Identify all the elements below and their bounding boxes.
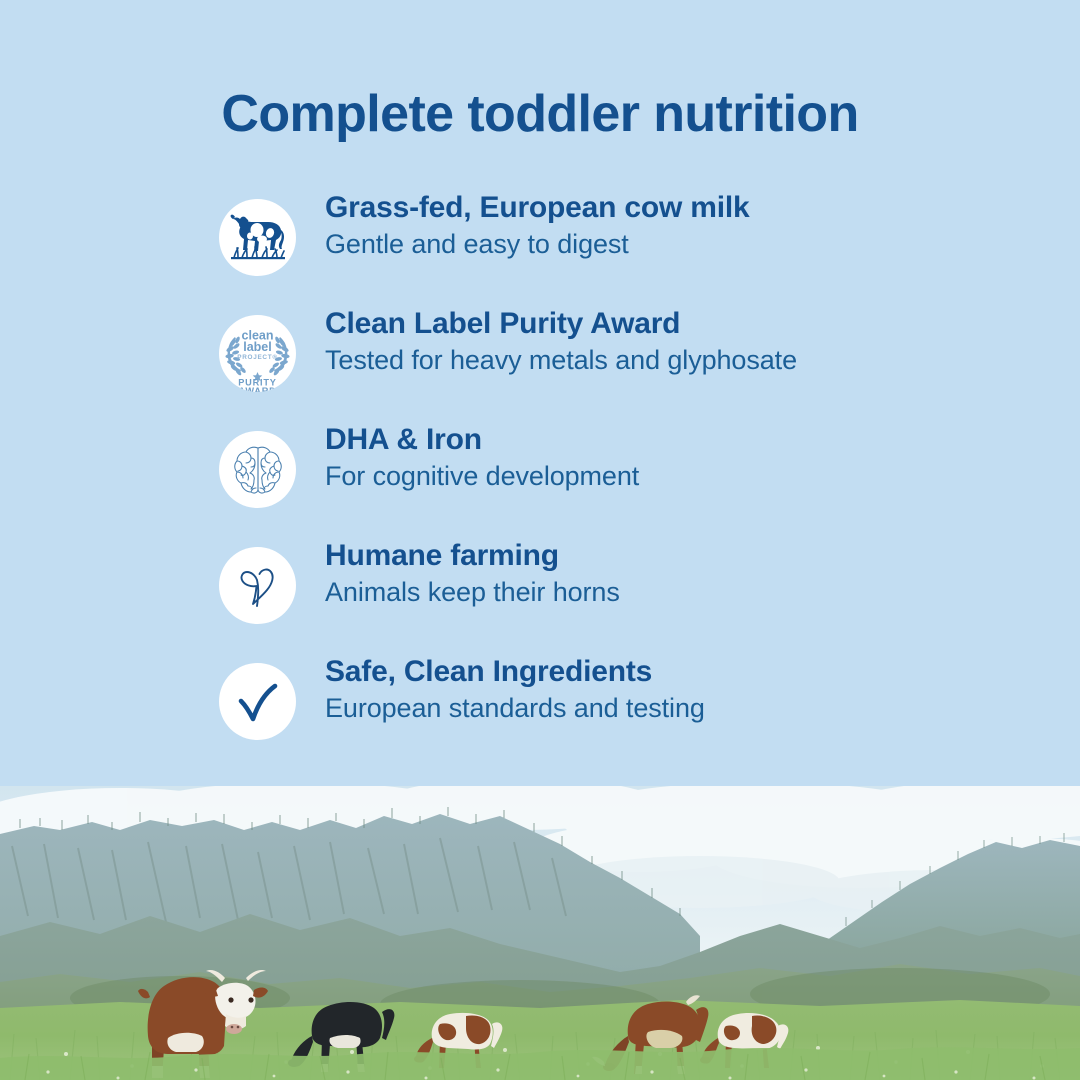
- feature-subtitle: Animals keep their horns: [325, 576, 620, 610]
- feature-item-grass-fed: Grass-fed, European cow milk Gentle and …: [0, 190, 1080, 306]
- badge-line-project: PROJECT®: [237, 353, 278, 361]
- brain-icon: [219, 431, 296, 508]
- feature-title: Safe, Clean Ingredients: [325, 654, 705, 691]
- feature-subtitle: For cognitive development: [325, 460, 639, 494]
- badge-line-award: AWARD: [238, 386, 276, 392]
- clean-label-purity-award-badge-icon: clean label PROJECT® PURITY AWARD: [219, 315, 296, 392]
- feature-title: Humane farming: [325, 538, 620, 575]
- feature-subtitle: European standards and testing: [325, 692, 705, 726]
- checkmark-icon: [219, 663, 296, 740]
- feature-item-humane-farming: Humane farming Animals keep their horns: [0, 538, 1080, 654]
- cow-in-grass-icon: [219, 199, 296, 276]
- feature-item-safe-ingredients: Safe, Clean Ingredients European standar…: [0, 654, 1080, 770]
- badge-line-label: label: [243, 340, 272, 354]
- feature-text-block: Grass-fed, European cow milk Gentle and …: [325, 190, 750, 261]
- feature-subtitle: Tested for heavy metals and glyphosate: [325, 344, 797, 378]
- feature-list: Grass-fed, European cow milk Gentle and …: [0, 190, 1080, 770]
- feature-title: Clean Label Purity Award: [325, 306, 797, 343]
- feature-item-clean-label: clean label PROJECT® PURITY AWARD Clean …: [0, 306, 1080, 422]
- feature-subtitle: Gentle and easy to digest: [325, 228, 750, 262]
- feature-text-block: Humane farming Animals keep their horns: [325, 538, 620, 609]
- feature-text-block: Safe, Clean Ingredients European standar…: [325, 654, 705, 725]
- feature-item-dha-iron: DHA & Iron For cognitive development: [0, 422, 1080, 538]
- feature-title: Grass-fed, European cow milk: [325, 190, 750, 227]
- feature-text-block: Clean Label Purity Award Tested for heav…: [325, 306, 797, 377]
- hand-drawn-heart-icon: [219, 547, 296, 624]
- pasture-photo: [0, 786, 1080, 1080]
- promo-graphic: Complete toddler nutrition: [0, 0, 1080, 1080]
- feature-title: DHA & Iron: [325, 422, 639, 459]
- feature-text-block: DHA & Iron For cognitive development: [325, 422, 639, 493]
- page-title: Complete toddler nutrition: [0, 86, 1080, 143]
